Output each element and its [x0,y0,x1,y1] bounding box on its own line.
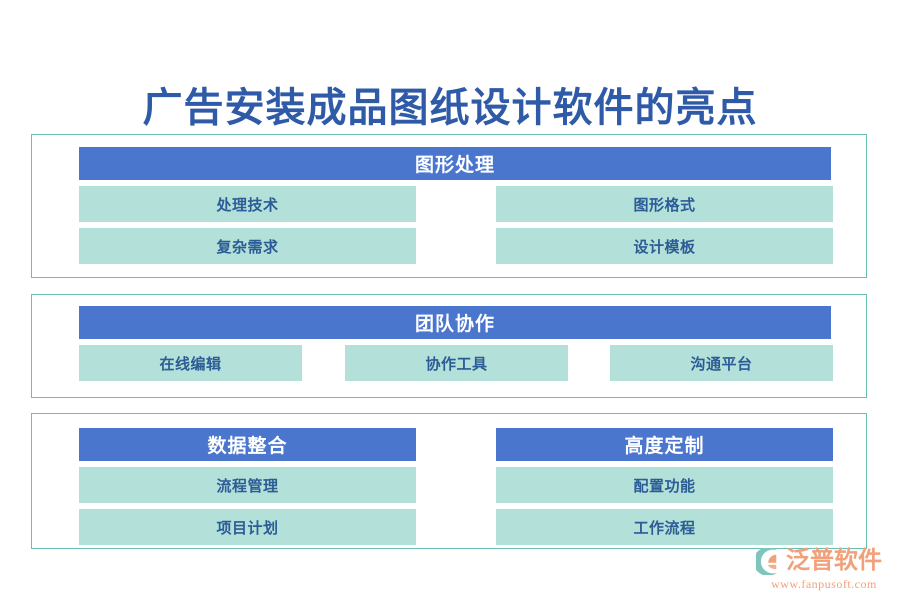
slide-canvas: 广告安装成品图纸设计软件的亮点 图形处理 处理技术 图形格式 复杂需求 设计模板… [0,0,900,600]
logo-row: 泛普软件 [756,546,892,576]
section-header-graphics-processing[interactable]: 图形处理 [79,147,831,180]
section-team-collaboration: 团队协作 在线编辑 协作工具 沟通平台 [31,294,867,398]
logo-wordmark: 泛普软件 [786,548,882,575]
feature-item[interactable]: 设计模板 [496,228,833,264]
fanpu-swoosh-icon [756,548,783,575]
feature-item[interactable]: 流程管理 [79,467,416,503]
section-header-team-collaboration[interactable]: 团队协作 [79,306,831,339]
feature-item[interactable]: 项目计划 [79,509,416,545]
logo-website-url: www.fanpusoft.com [756,577,892,592]
section-header-high-customization[interactable]: 高度定制 [496,428,833,461]
page-title: 广告安装成品图纸设计软件的亮点 [0,84,900,132]
feature-item[interactable]: 在线编辑 [79,345,302,381]
feature-item[interactable]: 图形格式 [496,186,833,222]
feature-item[interactable]: 沟通平台 [610,345,833,381]
brand-logo: 泛普软件 www.fanpusoft.com [756,546,892,592]
feature-item[interactable]: 复杂需求 [79,228,416,264]
feature-item[interactable]: 协作工具 [345,345,568,381]
section-data-and-customization: 数据整合 流程管理 项目计划 高度定制 配置功能 工作流程 [31,413,867,549]
section-header-data-integration[interactable]: 数据整合 [79,428,416,461]
feature-item[interactable]: 工作流程 [496,509,833,545]
feature-item[interactable]: 配置功能 [496,467,833,503]
feature-item[interactable]: 处理技术 [79,186,416,222]
section-graphics-processing: 图形处理 处理技术 图形格式 复杂需求 设计模板 [31,134,867,278]
